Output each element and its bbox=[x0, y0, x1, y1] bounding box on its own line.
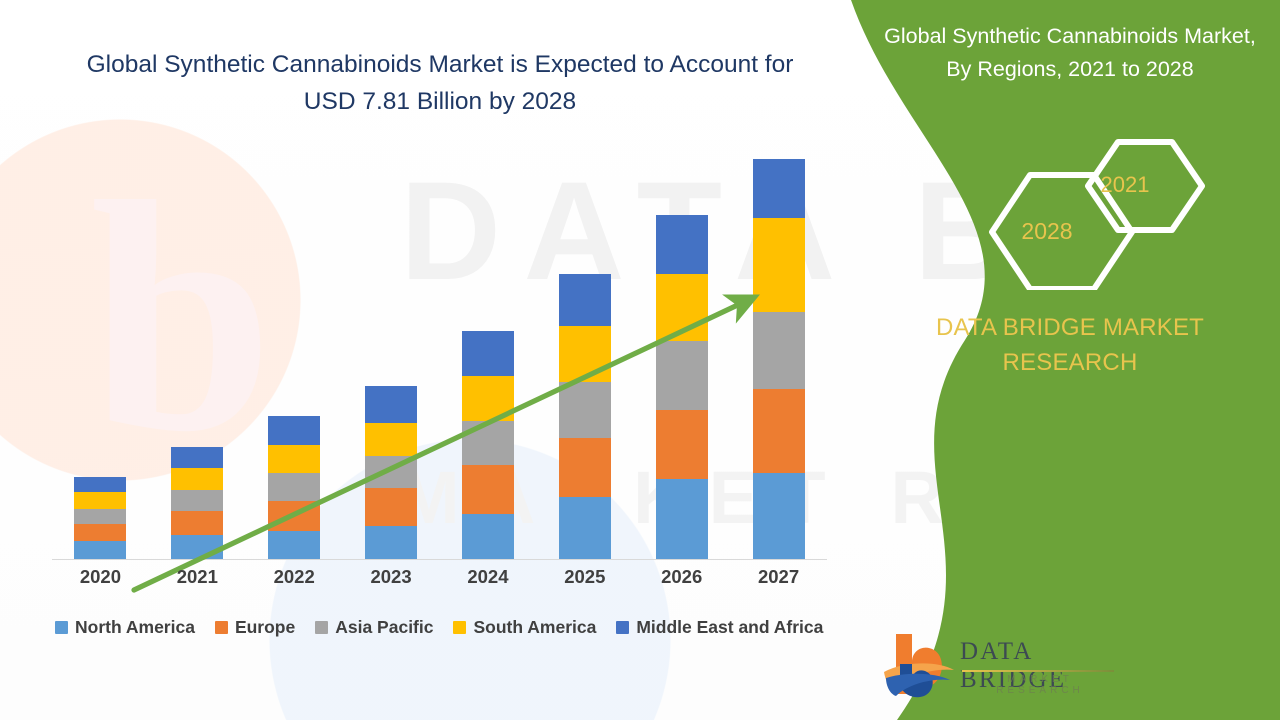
bar-segment bbox=[268, 445, 320, 473]
bar-segment bbox=[656, 215, 708, 274]
bar-segment bbox=[268, 416, 320, 445]
bar-segment bbox=[171, 447, 223, 467]
legend-label: Asia Pacific bbox=[335, 617, 433, 638]
panel-title: Global Synthetic Cannabinoids Market, By… bbox=[880, 20, 1260, 86]
bar-segment bbox=[365, 526, 417, 559]
bar-2026 bbox=[656, 215, 708, 559]
bar-segment bbox=[656, 410, 708, 480]
legend-swatch-icon bbox=[215, 621, 228, 634]
bar-segment bbox=[753, 159, 805, 218]
bar-segment bbox=[365, 423, 417, 456]
bar-segment bbox=[753, 473, 805, 559]
chart-legend: North AmericaEuropeAsia PacificSouth Ame… bbox=[55, 617, 823, 638]
bar-segment bbox=[559, 274, 611, 326]
bar-segment bbox=[74, 524, 126, 541]
x-tick-2024: 2024 bbox=[440, 566, 536, 588]
x-tick-2025: 2025 bbox=[537, 566, 633, 588]
bar-segment bbox=[365, 386, 417, 423]
chart-panel: Global Synthetic Cannabinoids Market is … bbox=[0, 0, 860, 720]
brand-name: DATA BRIDGE MARKET RESEARCH bbox=[880, 310, 1260, 380]
logo-subtitle: MARKET RESEARCH bbox=[962, 674, 1118, 696]
legend-item[interactable]: Asia Pacific bbox=[315, 617, 433, 638]
bar-segment bbox=[462, 331, 514, 376]
bar-segment bbox=[753, 312, 805, 389]
bar-segment bbox=[74, 492, 126, 508]
bar-segment bbox=[74, 541, 126, 559]
chart-title: Global Synthetic Cannabinoids Market is … bbox=[60, 46, 820, 120]
logo-divider bbox=[962, 670, 1114, 672]
bar-segment bbox=[559, 382, 611, 438]
stacked-bar-plot bbox=[52, 130, 827, 560]
hex-2021-label: 2021 bbox=[1075, 172, 1175, 198]
bar-segment bbox=[171, 468, 223, 491]
bar-2027 bbox=[753, 159, 805, 559]
x-tick-2021: 2021 bbox=[149, 566, 245, 588]
x-tick-2026: 2026 bbox=[634, 566, 730, 588]
bar-segment bbox=[268, 473, 320, 501]
bar-segment bbox=[171, 535, 223, 559]
bar-2021 bbox=[171, 447, 223, 559]
bar-segment bbox=[171, 490, 223, 510]
bar-segment bbox=[656, 274, 708, 341]
x-tick-2023: 2023 bbox=[343, 566, 439, 588]
bar-segment bbox=[753, 389, 805, 473]
bar-segment bbox=[365, 488, 417, 526]
x-tick-2022: 2022 bbox=[246, 566, 342, 588]
bar-segment bbox=[656, 341, 708, 410]
legend-swatch-icon bbox=[55, 621, 68, 634]
bar-2020 bbox=[74, 477, 126, 559]
bar-segment bbox=[559, 438, 611, 497]
bar-segment bbox=[74, 477, 126, 492]
bar-segment bbox=[268, 531, 320, 559]
legend-item[interactable]: South America bbox=[453, 617, 596, 638]
legend-swatch-icon bbox=[315, 621, 328, 634]
x-tick-2027: 2027 bbox=[731, 566, 827, 588]
bar-segment bbox=[559, 326, 611, 382]
legend-swatch-icon bbox=[453, 621, 466, 634]
legend-label: South America bbox=[473, 617, 596, 638]
legend-label: Middle East and Africa bbox=[636, 617, 823, 638]
bar-segment bbox=[559, 497, 611, 559]
hex-2028-label: 2028 bbox=[992, 218, 1102, 245]
bar-segment bbox=[74, 509, 126, 524]
databridge-b-logo-icon bbox=[880, 628, 958, 704]
legend-label: Europe bbox=[235, 617, 295, 638]
hexagon-badges bbox=[860, 130, 1280, 290]
bar-segment bbox=[656, 479, 708, 559]
bar-segment bbox=[753, 218, 805, 312]
bar-segment bbox=[462, 421, 514, 465]
legend-label: North America bbox=[75, 617, 195, 638]
legend-item[interactable]: Middle East and Africa bbox=[616, 617, 823, 638]
x-tick-2020: 2020 bbox=[52, 566, 148, 588]
bar-2025 bbox=[559, 274, 611, 559]
bar-segment bbox=[462, 376, 514, 421]
green-panel-content: Global Synthetic Cannabinoids Market, By… bbox=[860, 0, 1280, 720]
databridge-logo: DATA BRIDGE MARKET RESEARCH bbox=[880, 628, 1120, 710]
bar-segment bbox=[462, 514, 514, 559]
bar-segment bbox=[268, 501, 320, 531]
x-axis-line bbox=[52, 559, 827, 560]
bar-segment bbox=[171, 511, 223, 536]
legend-swatch-icon bbox=[616, 621, 629, 634]
bar-segment bbox=[365, 456, 417, 488]
x-axis-labels: 20202021202220232024202520262027 bbox=[52, 566, 827, 592]
bar-segment bbox=[462, 465, 514, 513]
bar-2023 bbox=[365, 386, 417, 559]
legend-item[interactable]: North America bbox=[55, 617, 195, 638]
legend-item[interactable]: Europe bbox=[215, 617, 295, 638]
bar-2022 bbox=[268, 416, 320, 559]
bar-2024 bbox=[462, 331, 514, 559]
